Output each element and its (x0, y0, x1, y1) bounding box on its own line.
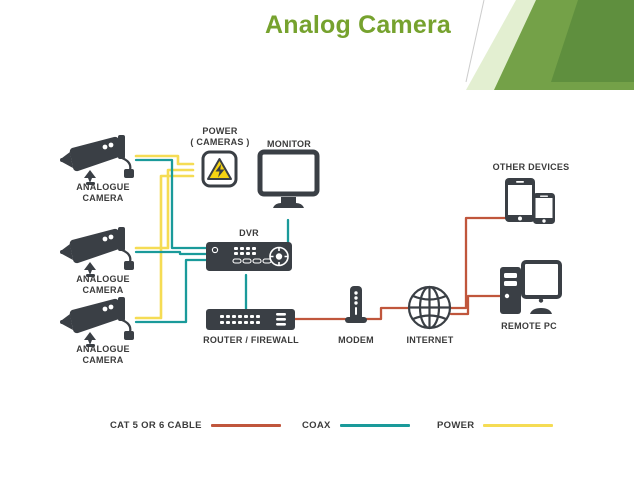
cctv-camera-icon[interactable] (60, 227, 134, 277)
router-icon[interactable] (206, 309, 295, 330)
legend-item-cat5: CAT 5 OR 6 CABLE (110, 415, 281, 435)
legend-item-coax: COAX (302, 415, 410, 435)
page-title: Analog Camera (250, 8, 466, 42)
globe-icon[interactable] (409, 287, 450, 328)
label-analogue-camera-1: ANALOGUE CAMERA (62, 182, 144, 204)
desktop-computer-icon[interactable] (500, 262, 560, 314)
label-internet: INTERNET (398, 335, 462, 346)
cable-legend: CAT 5 OR 6 CABLE COAX POWER (0, 415, 634, 455)
label-power-cameras: POWER ( CAMERAS ) (178, 126, 262, 148)
modem-icon[interactable] (345, 286, 367, 323)
label-other-devices: OTHER DEVICES (484, 162, 578, 173)
label-modem: MODEM (325, 335, 387, 346)
label-dvr: DVR (220, 228, 278, 239)
slide-canvas: Analog Camera (0, 0, 634, 485)
legend-label-power: POWER (437, 420, 474, 431)
label-analogue-camera-2: ANALOGUE CAMERA (62, 274, 144, 296)
legend-item-power: POWER (437, 415, 553, 435)
label-monitor: MONITOR (254, 139, 324, 150)
cctv-camera-icon[interactable] (60, 135, 134, 185)
legend-swatch-power (483, 424, 553, 427)
label-remote-pc: REMOTE PC (486, 321, 572, 332)
monitor-icon[interactable] (260, 152, 317, 208)
label-router-firewall: ROUTER / FIREWALL (192, 335, 310, 346)
power-warning-icon[interactable] (203, 152, 236, 186)
label-analogue-camera-3: ANALOGUE CAMERA (62, 344, 144, 366)
dvr-icon[interactable] (206, 242, 292, 271)
legend-swatch-coax (340, 424, 410, 427)
slide-header: Analog Camera (0, 0, 634, 90)
legend-label-cat5: CAT 5 OR 6 CABLE (110, 420, 202, 431)
tablet-phone-icon[interactable] (505, 178, 555, 224)
legend-swatch-cat5 (211, 424, 281, 427)
network-diagram: ANALOGUE CAMERA ANALOGUE CAMERA ANALOGUE… (0, 90, 634, 415)
cctv-camera-icon[interactable] (60, 297, 134, 347)
legend-label-coax: COAX (302, 420, 331, 431)
